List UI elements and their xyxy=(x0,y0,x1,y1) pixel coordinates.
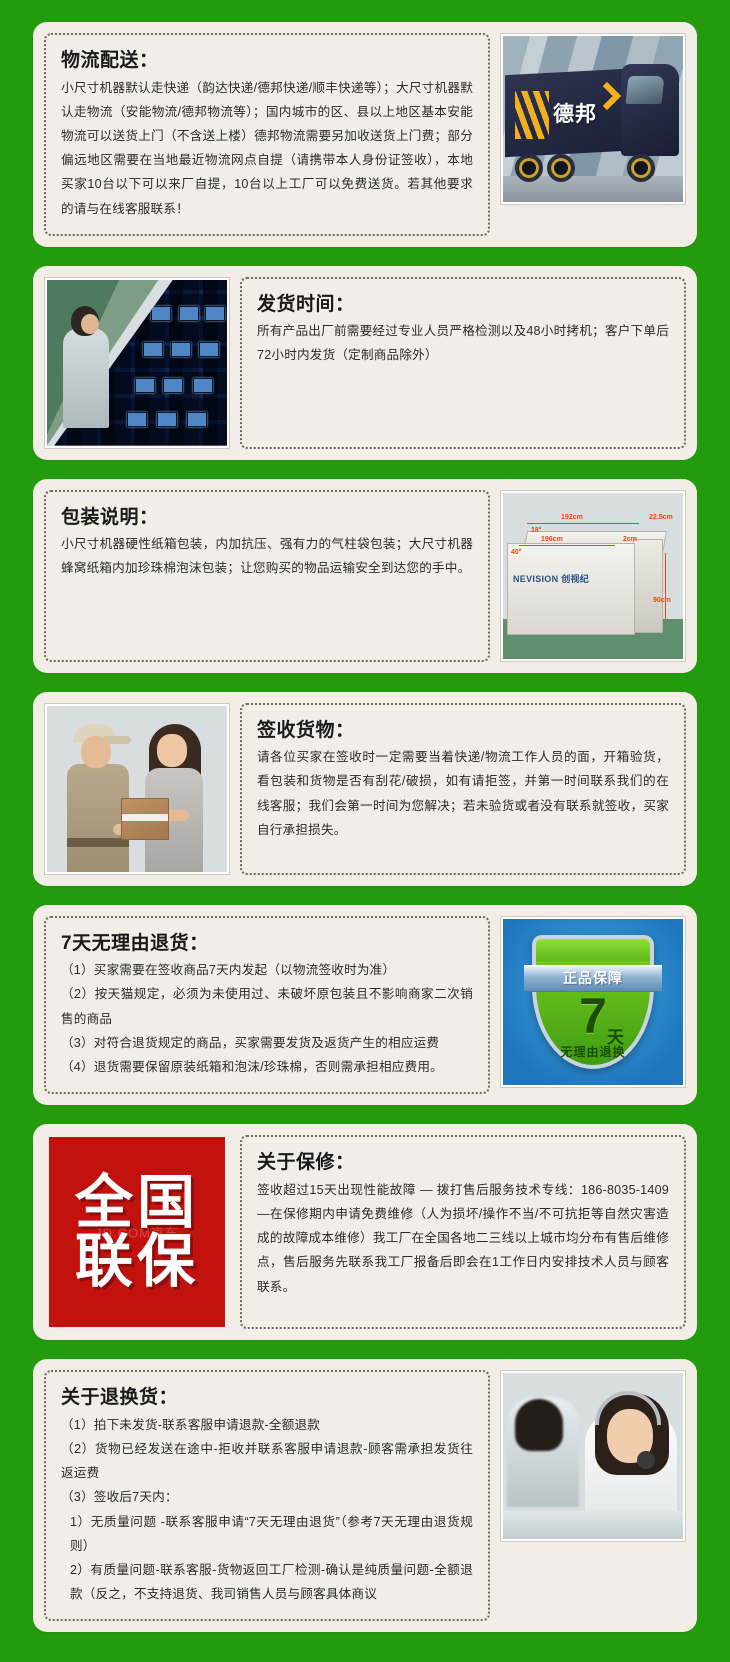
customer-service-photo xyxy=(500,1370,686,1542)
paragraph: 所有产品出厂前需要经过专业人员严格检测以及48小时拷机；客户下单后72小时内发货… xyxy=(257,319,669,367)
section-title: 关于退换货： xyxy=(61,1385,473,1411)
seven-day-guarantee-badge: 正品保障 7 天 无理由退换 xyxy=(500,916,686,1088)
dimension-label: 196cm xyxy=(541,536,563,543)
packaging-description-text: 包装说明： 小尺寸机器硬性纸箱包装，内加抗压、强有力的气柱袋包装；大尺寸机器蜂窝… xyxy=(44,490,490,662)
badge-number: 7 xyxy=(536,991,650,1041)
section-card-about-returns-exchanges: 关于退换货： （1）拍下未发货-联系客服申请退款-全额退款 （2）货物已经发送在… xyxy=(33,1359,697,1632)
about-warranty-text: 关于保修： 签收超过15天出现性能故障 — 拨打售后服务技术专线：186-803… xyxy=(240,1135,686,1329)
section-body: 小尺寸机器硬性纸箱包装，内加抗压、强有力的气柱袋包装；大尺寸机器蜂窝纸箱内加珍珠… xyxy=(61,532,473,580)
dimension-label: 2cm xyxy=(623,536,637,543)
paragraph: （3）签收后7天内： xyxy=(61,1485,473,1509)
section-body: 签收超过15天出现性能故障 — 拨打售后服务技术专线：186-8035-1409… xyxy=(257,1178,669,1299)
seal-watermark: JD.COM京东 xyxy=(49,1223,225,1242)
section-card-about-warranty: 全国 JD.COM京东 联保 关于保修： 签收超过15天出现性能故障 — 拨打售… xyxy=(33,1124,697,1340)
angle-label: 40° xyxy=(511,549,522,556)
national-warranty-seal: 全国 JD.COM京东 联保 xyxy=(44,1135,230,1329)
section-title: 关于保修： xyxy=(257,1150,669,1176)
paragraph: （4）退货需要保留原装纸箱和泡沫/珍珠棉，否则需承担相应费用。 xyxy=(61,1055,473,1079)
shipping-time-text: 发货时间： 所有产品出厂前需要经过专业人员严格检测以及48小时拷机；客户下单后7… xyxy=(240,277,686,449)
deppon-truck-photo: 德邦 xyxy=(500,33,686,205)
section-card-goods-receipt: 签收货物： 请各位买家在签收时一定需要当着快递/物流工作人员的面，开箱验货，看包… xyxy=(33,692,697,886)
logistics-delivery-text: 物流配送： 小尺寸机器默认走快递（韵达快递/德邦快递/顺丰快递等）；大尺寸机器默… xyxy=(44,33,490,236)
section-body: （1）拍下未发货-联系客服申请退款-全额退款 （2）货物已经发送在途中-拒收并联… xyxy=(61,1413,473,1606)
courier-handover-photo xyxy=(44,703,230,875)
section-card-shipping-time: 发货时间： 所有产品出厂前需要经过专业人员严格检测以及48小时拷机；客户下单后7… xyxy=(33,266,697,460)
paragraph: （1）拍下未发货-联系客服申请退款-全额退款 xyxy=(61,1413,473,1437)
paragraph: （2）货物已经发送在途中-拒收并联系客服申请退款-顾客需承担发货往返运费 xyxy=(61,1437,473,1485)
about-returns-exchanges-text: 关于退换货： （1）拍下未发货-联系客服申请退款-全额退款 （2）货物已经发送在… xyxy=(44,1370,490,1621)
section-card-logistics-delivery: 物流配送： 小尺寸机器默认走快递（韵达快递/德邦快递/顺丰快递等）；大尺寸机器默… xyxy=(33,22,697,247)
paragraph: （1）买家需要在签收商品7天内发起（以物流签收时为准） xyxy=(61,958,473,982)
paragraph: 请各位买家在签收时一定需要当着快递/物流工作人员的面，开箱验货，看包装和货物是否… xyxy=(257,745,669,842)
seven-day-return-text: 7天无理由退货： （1）买家需要在签收商品7天内发起（以物流签收时为准） （2）… xyxy=(44,916,490,1095)
section-body: 小尺寸机器默认走快递（韵达快递/德邦快递/顺丰快递等）；大尺寸机器默认走物流（安… xyxy=(61,76,473,221)
dimension-label: 22.5cm xyxy=(649,514,673,521)
section-body: 所有产品出厂前需要经过专业人员严格检测以及48小时拷机；客户下单后72小时内发货… xyxy=(257,319,669,367)
section-title: 物流配送： xyxy=(61,48,473,74)
angle-label: 18° xyxy=(531,527,542,534)
badge-subtitle: 无理由退换 xyxy=(536,1043,650,1060)
section-body: 请各位买家在签收时一定需要当着快递/物流工作人员的面，开箱验货，看包装和货物是否… xyxy=(257,745,669,842)
paragraph: （3）对符合退货规定的商品，买家需要发货及返货产生的相应运费 xyxy=(61,1031,473,1055)
section-card-packaging-description: 包装说明： 小尺寸机器硬性纸箱包装，内加抗压、强有力的气柱袋包装；大尺寸机器蜂窝… xyxy=(33,479,697,673)
section-body: （1）买家需要在签收商品7天内发起（以物流签收时为准） （2）按天猫规定，必须为… xyxy=(61,958,473,1079)
dimension-label: 192cm xyxy=(561,514,583,521)
goods-receipt-text: 签收货物： 请各位买家在签收时一定需要当着快递/物流工作人员的面，开箱验货，看包… xyxy=(240,703,686,875)
packaging-box-photo: NEVISION 创视纪 192cm 196cm 22.5cm 2cm 90cm… xyxy=(500,490,686,662)
paragraph: （2）按天猫规定，必须为未使用过、未破坏原包装且不影响商家二次销售的商品 xyxy=(61,982,473,1030)
factory-testing-photo xyxy=(44,277,230,449)
paragraph: 签收超过15天出现性能故障 — 拨打售后服务技术专线：186-8035-1409… xyxy=(257,1178,669,1299)
section-title: 发货时间： xyxy=(257,292,669,318)
after-sales-policy-page: 物流配送： 小尺寸机器默认走快递（韵达快递/德邦快递/顺丰快递等）；大尺寸机器默… xyxy=(0,0,730,1662)
dimension-label: 90cm xyxy=(653,597,671,604)
package-brand-label: NEVISION 创视纪 xyxy=(513,572,589,585)
section-card-seven-day-return: 7天无理由退货： （1）买家需要在签收商品7天内发起（以物流签收时为准） （2）… xyxy=(33,905,697,1106)
truck-logo-text: 德邦 xyxy=(553,98,597,128)
paragraph: 小尺寸机器硬性纸箱包装，内加抗压、强有力的气柱袋包装；大尺寸机器蜂窝纸箱内加珍珠… xyxy=(61,532,473,580)
paragraph: 2）有质量问题-联系客服-货物返回工厂检测-确认是纯质量问题-全额退款（反之，不… xyxy=(61,1558,473,1606)
paragraph: 1）无质量问题 -联系客服申请“7天无理由退货”（参考7天无理由退货规则） xyxy=(61,1510,473,1558)
section-title: 7天无理由退货： xyxy=(61,931,473,957)
section-title: 包装说明： xyxy=(61,505,473,531)
section-title: 签收货物： xyxy=(257,718,669,744)
paragraph: 小尺寸机器默认走快递（韵达快递/德邦快递/顺丰快递等）；大尺寸机器默认走物流（安… xyxy=(61,76,473,221)
